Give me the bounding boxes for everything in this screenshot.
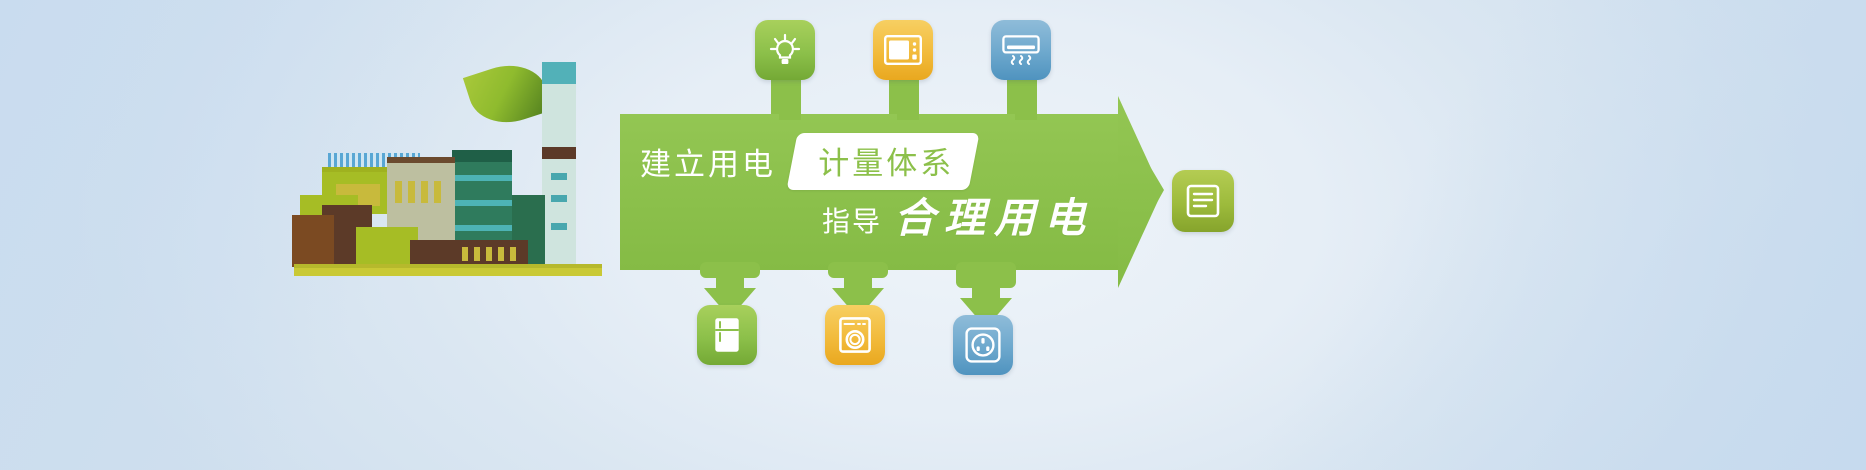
electric-meter-icon[interactable] <box>1172 170 1234 232</box>
power-socket-icon[interactable] <box>953 315 1013 375</box>
washing-machine-icon[interactable] <box>825 305 885 365</box>
headline-block: 建立用电 计量体系 指导 合理用电 <box>640 138 1200 248</box>
headline-line-2: 指导 合理用电 <box>822 192 1094 244</box>
headline-line-1: 建立用电 计量体系 <box>640 138 974 184</box>
headline-lead-text: 指导 <box>822 200 882 244</box>
microwave-oven-icon[interactable] <box>873 20 933 80</box>
headline-highlight-pill: 计量体系 <box>786 133 979 190</box>
light-bulb-icon[interactable] <box>755 20 815 80</box>
headline-highlight-text: 计量体系 <box>818 138 954 183</box>
refrigerator-icon[interactable] <box>697 305 757 365</box>
headline-brush-text: 合理用电 <box>894 184 1094 244</box>
air-conditioner-icon[interactable] <box>991 20 1051 80</box>
headline-plain-text: 建立用电 <box>640 139 776 184</box>
energy-metering-banner: 建立用电 计量体系 指导 合理用电 <box>0 0 1866 470</box>
